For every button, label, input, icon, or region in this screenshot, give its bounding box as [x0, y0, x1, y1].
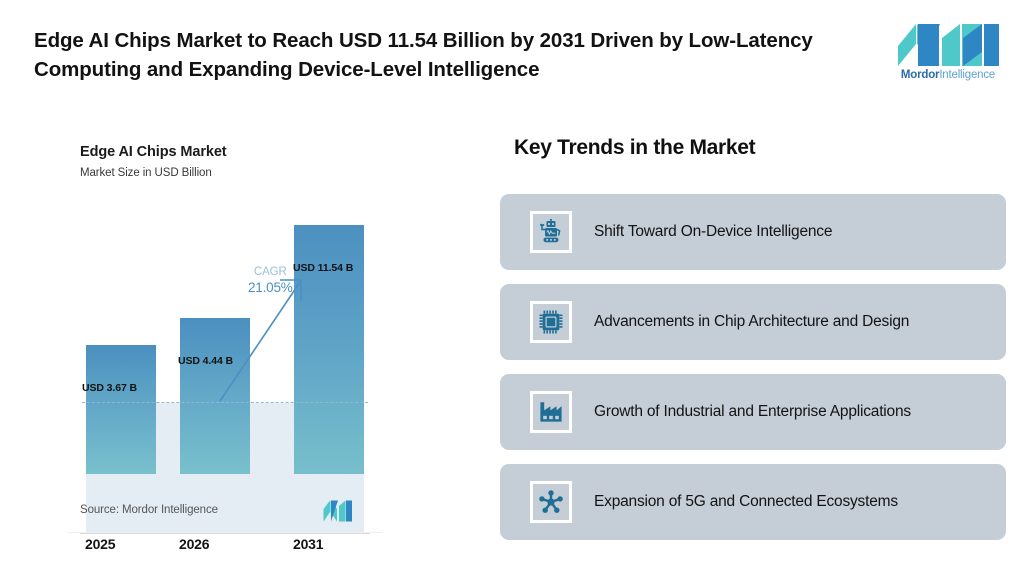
trend-label-4: Expansion of 5G and Connected Ecosystems — [594, 490, 984, 513]
factory-icon — [530, 391, 572, 433]
factory-icon-glyph — [538, 399, 564, 425]
chart-card: Edge AI Chips Market Market Size in USD … — [58, 132, 390, 542]
trend-card-4[interactable]: Expansion of 5G and Connected Ecosystems — [500, 464, 1006, 540]
trend-label-1: Shift Toward On-Device Intelligence — [594, 220, 984, 243]
trend-card-3[interactable]: Growth of Industrial and Enterprise Appl… — [500, 374, 1006, 450]
mordor-logo-mark-icon — [896, 22, 1001, 67]
cagr-value: 21.05% — [248, 280, 293, 296]
x-label-2025: 2025 — [85, 536, 115, 552]
mordor-logo-small-icon — [323, 500, 353, 522]
bar-label-2031: USD 11.54 B — [293, 262, 353, 274]
robot-icon-glyph — [538, 219, 564, 245]
cagr-label: CAGR — [248, 266, 293, 280]
network-icon-glyph — [538, 489, 564, 515]
chart-card-divider — [68, 532, 382, 533]
chart-x-axis-labels: 2025 2026 2031 — [58, 536, 348, 558]
bar-chart-plot: USD 3.67 B USD 4.44 B USD 11.54 B CAGR 2… — [80, 194, 370, 474]
logo-wordmark: MordorIntelligence — [889, 69, 1007, 81]
page-title: Edge AI Chips Market to Reach USD 11.54 … — [34, 26, 844, 84]
logo-word-mordor: Mordor — [901, 69, 939, 81]
chart-source-text: Source: Mordor Intelligence — [80, 504, 218, 516]
robot-icon — [530, 211, 572, 253]
chip-icon-glyph — [538, 309, 564, 335]
trend-label-2: Advancements in Chip Architecture and De… — [594, 310, 984, 333]
x-label-2026: 2026 — [179, 536, 209, 552]
bar-2026 — [180, 318, 250, 474]
trend-label-3: Growth of Industrial and Enterprise Appl… — [594, 400, 984, 423]
logo-word-intelligence: Intelligence — [939, 69, 995, 81]
chart-subtitle: Market Size in USD Billion — [80, 167, 212, 179]
chart-reference-dashed-line — [82, 402, 368, 403]
key-trends-panel: Key Trends in the Market Shift — [500, 130, 1008, 544]
x-label-2031: 2031 — [293, 536, 323, 552]
cagr-annotation: CAGR 21.05% — [248, 266, 293, 295]
mordor-intelligence-logo: MordorIntelligence — [889, 22, 1007, 90]
chip-icon — [530, 301, 572, 343]
chart-title: Edge AI Chips Market — [80, 144, 227, 160]
key-trends-title: Key Trends in the Market — [514, 136, 755, 160]
trend-card-1[interactable]: Shift Toward On-Device Intelligence — [500, 194, 1006, 270]
chart-source-row: Source: Mordor Intelligence — [80, 500, 370, 526]
trend-card-2[interactable]: Advancements in Chip Architecture and De… — [500, 284, 1006, 360]
network-icon — [530, 481, 572, 523]
bar-2025 — [86, 345, 156, 474]
bar-label-2025: USD 3.67 B — [82, 382, 137, 394]
page-header: Edge AI Chips Market to Reach USD 11.54 … — [0, 0, 1033, 112]
bar-label-2026: USD 4.44 B — [178, 355, 233, 367]
